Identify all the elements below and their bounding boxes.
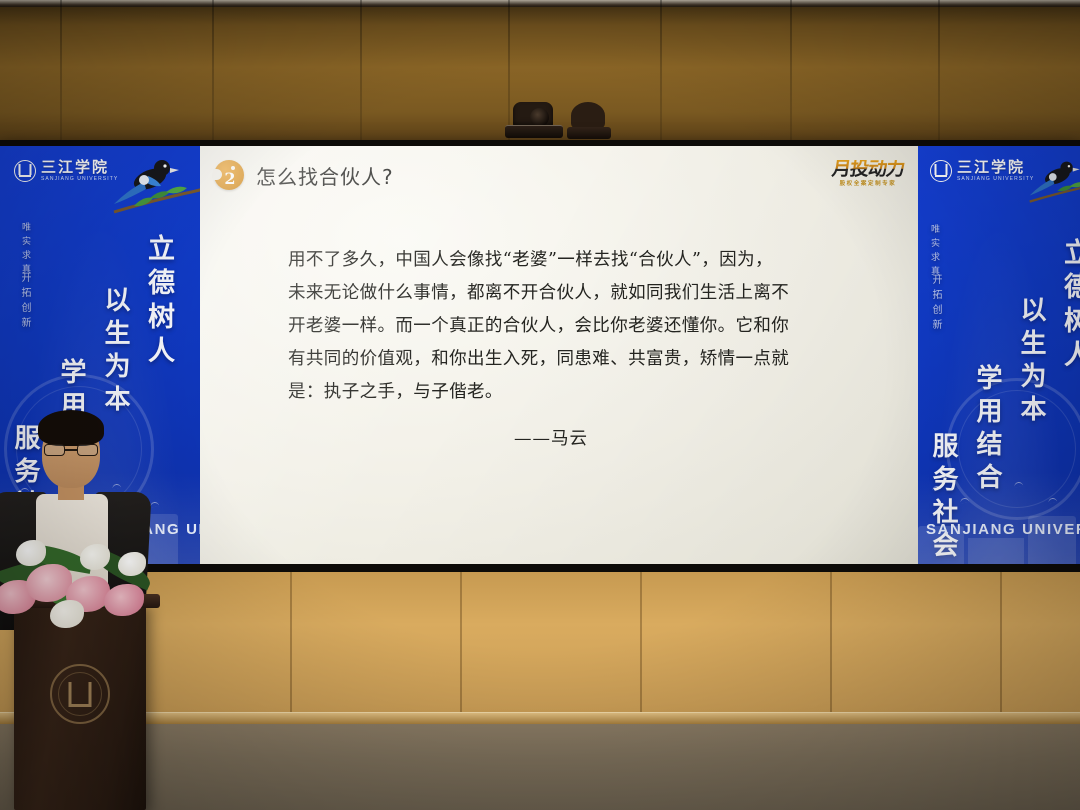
backdrop-footer-text-right: SANJIANG UNIVERSITY [926,521,1080,538]
slogan-main-1: 立德树人 [139,234,178,370]
quote-line: 有共同的价值观，和你出生入死，同患难、共富贵，矫情一点就 [288,343,832,376]
slogan-small-1: 唯实求真 [19,222,32,278]
university-name-cn: 三江学院 [41,160,118,176]
slogan-main-2: 以生为本 [97,286,134,418]
camera-base [505,125,563,138]
slogan-small-2: 开拓创新 [928,274,943,334]
badge-number: 2 [215,163,245,193]
ptz-camera [505,100,615,142]
camera-mount-base [567,127,611,139]
sanjiang-logo-left: 三江学院 SANJIANG UNIVERSITY [14,160,118,182]
baseboard [0,712,1080,724]
slogan-small-2: 开拓创新 [17,272,32,332]
vendor-logo-name: 月投动力 [831,160,906,179]
magpie-branch-icon [104,154,200,232]
hair [38,410,104,446]
slide-title: 怎么找合伙人? [256,161,394,190]
university-name-en: SANJIANG UNIVERSITY [41,177,118,182]
ceiling-strip [0,0,1080,7]
university-name-en: SANJIANG UNIVERSITY [957,177,1034,182]
vendor-logo: 月投动力 股权全案定制专家 [832,160,904,188]
slogan-main-2: 以生为本 [1013,296,1050,428]
quote-attribution: ——马云 [288,425,832,450]
campus-silhouette-right: SANJIANG UNIVERSITY [918,472,1080,564]
floor [0,724,1080,810]
quote-line: 开老婆一样。而一个真正的合伙人，会比你老婆还懂你。它和你 [288,310,832,343]
vendor-logo-tagline: 股权全案定制专家 [832,182,904,188]
sanjiang-logo-right: 三江学院 SANJIANG UNIVERSITY [930,160,1034,182]
quote-line: 用不了多久，中国人会像找“老婆”一样去找“合伙人”，因为， [288,244,832,277]
university-seal-icon [14,160,36,182]
projected-slide[interactable]: 2 怎么找合伙人? 月投动力 股权全案定制专家 用不了多久，中国人会像找“老婆”… [200,146,918,564]
backdrop-panel-right: 三江学院 SANJIANG UNIVERSITY 唯实求真 开拓创 [918,146,1080,564]
slide-header: 2 怎么找合伙人? [200,146,918,204]
university-name-cn: 三江学院 [957,160,1034,176]
flower-arrangement [0,500,182,650]
university-seal-icon [930,160,952,182]
slogan-main-1: 立德树人 [1055,238,1080,374]
slide-quote-block: 用不了多久，中国人会像找“老婆”一样去找“合伙人”，因为， 未来无论做什么事情，… [288,244,832,450]
quote-line: 未来无论做什么事情，都离不开合伙人，就如同我们生活上离不 [288,277,832,310]
camera-mount [571,102,605,129]
slogan-small-1: 唯实求真 [928,224,941,280]
university-crest-icon [50,664,110,724]
quote-line: 是：执子之手，与子偕老。 [288,376,832,409]
slide-number-badge: 2 [214,160,244,190]
eyeglasses-icon [44,444,98,456]
lecture-hall-scene: 三江学院 SANJIANG UNIVERSITY [0,0,1080,810]
